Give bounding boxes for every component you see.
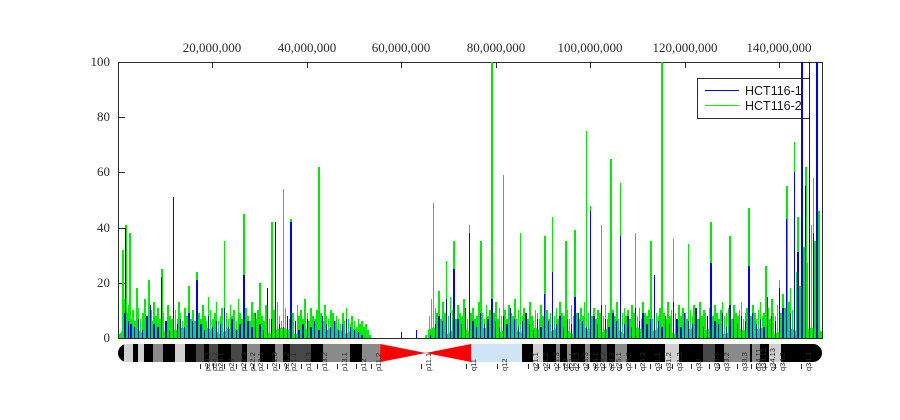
y-tick-label: 60 (78, 164, 110, 180)
data-spike-hct116-1 (208, 316, 209, 338)
data-spike-hct116-1 (503, 316, 504, 338)
data-spike-hct116-1 (495, 321, 496, 338)
data-spike-hct116-1 (314, 321, 315, 338)
legend-item-hct116-2: HCT116-2 (705, 98, 802, 113)
x-tick-label: 100,000,000 (558, 40, 623, 56)
y-tick-label: 80 (78, 109, 110, 125)
data-spike-hct116-1 (669, 324, 670, 338)
band-tick (751, 364, 752, 369)
y-tick (119, 172, 125, 173)
data-spike-hct116-1 (658, 321, 659, 338)
band-tick (719, 364, 720, 369)
data-spike-hct116-1 (224, 308, 225, 338)
data-spike-hct116-1 (177, 324, 178, 338)
band-label-q25.2: q25.2 (624, 352, 633, 371)
band-tick (528, 364, 529, 369)
data-spike-hct116-1 (153, 324, 154, 338)
x-tick (779, 62, 780, 68)
data-spike-hct116-1 (279, 324, 280, 338)
data-spike-hct116-1 (125, 228, 126, 338)
band-tick (775, 364, 776, 369)
data-spike-hct116-1 (612, 313, 613, 338)
band-tick (207, 364, 208, 369)
band-tick (253, 364, 254, 369)
data-spike-hct116-1 (295, 321, 296, 338)
data-spike-hct116-1 (537, 319, 538, 338)
legend-swatch (705, 105, 739, 106)
band-tick (286, 364, 287, 369)
data-spike-hct116-1 (733, 319, 734, 338)
band-tick (356, 364, 357, 369)
band-label-q23.3: q23.3 (581, 352, 590, 371)
data-spike-hct116-1 (506, 324, 507, 338)
data-spike-hct116-1 (741, 316, 742, 338)
data-spike-hct116-1 (767, 297, 768, 338)
data-spike-hct116-1 (416, 330, 417, 338)
data-spike-hct116-1 (801, 62, 802, 338)
data-spike-hct116-1 (499, 327, 500, 338)
data-spike-hct116-1 (522, 321, 523, 338)
data-spike-hct116-1 (461, 324, 462, 338)
x-axis-spine-bottom (118, 338, 823, 339)
band-label-p21.3: p21.3 (270, 352, 279, 371)
data-spike-hct116-1 (578, 313, 579, 338)
data-spike-hct116-1 (146, 316, 147, 338)
data-spike-hct116-1 (310, 327, 311, 338)
y-tick-label: 40 (78, 220, 110, 236)
data-spike-hct116-1 (745, 321, 746, 338)
data-spike-hct116-1 (165, 321, 166, 338)
data-spike-hct116-1 (200, 324, 201, 338)
band-tick (200, 364, 201, 369)
band-tick (267, 364, 268, 369)
data-spike-hct116-1 (533, 330, 534, 338)
band-tick (661, 364, 662, 369)
data-spike-hct116-1 (680, 327, 681, 338)
y-tick-label: 20 (78, 275, 110, 291)
data-spike-hct116-1 (342, 324, 343, 338)
band-tick (371, 364, 372, 369)
data-spike-hct116-1 (318, 330, 319, 338)
data-spike-hct116-1 (510, 308, 511, 338)
data-spike-hct116-1 (128, 321, 129, 338)
data-spike-hct116-1 (786, 219, 787, 338)
data-spike-hct116-1 (446, 299, 447, 338)
band-tick (564, 364, 565, 369)
x-tick-label: 60,000,000 (372, 40, 431, 56)
band-tick (611, 364, 612, 369)
band-label-p11.2: p11.2 (374, 353, 383, 371)
data-spike-hct116-1 (756, 324, 757, 338)
band-label-q33.2: q33.2 (722, 352, 731, 371)
data-spike-hct116-2 (425, 335, 427, 338)
data-baseline-hct116-2 (821, 332, 822, 338)
data-spike-hct116-1 (138, 319, 139, 338)
band-tick (421, 364, 422, 369)
data-spike-hct116-1 (771, 316, 772, 338)
legend: HCT116-1HCT116-2 (697, 78, 810, 119)
data-spike-hct116-1 (307, 319, 308, 338)
x-tick (401, 62, 402, 68)
data-spike-hct116-1 (469, 233, 470, 338)
band-tick (635, 364, 636, 369)
data-spike-hct116-1 (334, 321, 335, 338)
data-spike-hct116-1 (642, 313, 643, 338)
band-tick (279, 364, 280, 369)
data-spike-hct116-1 (726, 327, 727, 338)
band-tick (317, 364, 318, 369)
data-spike-hct116-1 (196, 280, 197, 338)
data-spike-hct116-1 (322, 316, 323, 338)
y-tick (119, 117, 125, 118)
data-spike-hct116-1 (204, 330, 205, 338)
x-tick-label: 140,000,000 (747, 40, 812, 56)
band-tick (765, 364, 766, 369)
data-spike-hct116-1 (627, 316, 628, 338)
band-label-p22.1: p22.1 (256, 352, 265, 371)
band-tick (621, 364, 622, 369)
data-spike-hct116-1 (794, 172, 795, 338)
x-tick-label: 40,000,000 (278, 40, 337, 56)
data-spike-hct116-1 (180, 319, 181, 338)
data-spike-hct116-1 (430, 335, 431, 338)
data-spike-hct116-1 (487, 319, 488, 338)
data-spike-hct116-1 (574, 297, 575, 338)
data-spike-hct116-1 (763, 327, 764, 338)
band-label-p23: p23 (227, 358, 236, 371)
band-label-q34.2: q34.2 (778, 352, 787, 371)
data-spike-hct116-1 (548, 321, 549, 338)
data-spike-hct116-1 (184, 327, 185, 338)
band-tick (672, 364, 673, 369)
data-spike-hct116-1 (760, 319, 761, 338)
data-spike-hct116-1 (544, 294, 545, 338)
band-tick (213, 364, 214, 369)
data-spike-hct116-1 (809, 62, 810, 338)
data-spike-hct116-2 (661, 62, 663, 338)
y-axis-spine-right (822, 62, 823, 339)
band-tick (737, 364, 738, 369)
data-spike-hct116-1 (267, 288, 268, 338)
data-spike-hct116-1 (782, 308, 783, 338)
band-label-q21.3: q21.3 (552, 352, 561, 371)
data-spike-hct116-1 (567, 319, 568, 338)
data-spike-hct116-1 (722, 313, 723, 338)
data-spike-hct116-1 (597, 324, 598, 338)
y-tick (119, 62, 125, 63)
band-tick (538, 364, 539, 369)
data-spike-hct116-1 (692, 324, 693, 338)
data-spike-hct116-1 (134, 327, 135, 338)
data-spike-hct116-1 (729, 305, 730, 338)
data-spike-hct116-1 (271, 319, 272, 338)
band-label-q11: q11 (469, 359, 478, 371)
band-tick (691, 364, 692, 369)
x-tick (496, 62, 497, 68)
data-spike-hct116-1 (665, 316, 666, 338)
data-spike-hct116-1 (157, 327, 158, 338)
data-spike-hct116-1 (298, 330, 299, 338)
data-spike-hct116-1 (593, 316, 594, 338)
data-spike-hct116-1 (263, 330, 264, 338)
data-spike-hct116-1 (571, 324, 572, 338)
band-tick (756, 364, 757, 369)
x-tick-label: 80,000,000 (467, 40, 526, 56)
data-spike-hct116-1 (326, 324, 327, 338)
band-tick (549, 364, 550, 369)
data-spike-hct116-1 (590, 211, 591, 338)
data-spike-hct116-1 (491, 299, 492, 338)
data-spike-hct116-1 (654, 275, 655, 338)
data-spike-hct116-1 (650, 319, 651, 338)
data-spike-hct116-1 (710, 263, 711, 338)
data-spike-hct116-2 (491, 62, 493, 338)
data-spike-hct116-1 (775, 321, 776, 338)
data-spike-hct116-1 (259, 324, 260, 338)
data-spike-hct116-1 (699, 319, 700, 338)
cgh-figure: 20,000,00040,000,00060,000,00080,000,000… (0, 0, 900, 420)
data-spike-hct116-1 (748, 266, 749, 338)
data-spike-hct116-1 (192, 321, 193, 338)
data-spike-hct116-1 (718, 324, 719, 338)
band-tick (337, 364, 338, 369)
data-spike-hct116-1 (188, 313, 189, 338)
data-spike-hct116-1 (673, 302, 674, 338)
band-label-p21.1: p21.1 (289, 352, 298, 371)
band-tick (595, 364, 596, 369)
data-spike-hct116-1 (559, 316, 560, 338)
data-spike-hct116-1 (173, 197, 174, 338)
y-tick (119, 338, 125, 339)
data-spike-hct116-1 (453, 269, 454, 338)
band-tick (709, 364, 710, 369)
band-tick (650, 364, 651, 369)
band-label-p12: p12 (359, 358, 368, 371)
y-tick-label: 0 (78, 330, 110, 346)
x-tick-label: 120,000,000 (653, 40, 718, 56)
data-spike-hct116-1 (283, 327, 284, 338)
data-spike-hct116-1 (797, 252, 798, 338)
data-spike-hct116-1 (150, 305, 151, 338)
data-spike-hct116-1 (231, 319, 232, 338)
data-spike-hct116-1 (688, 321, 689, 338)
data-spike-hct116-1 (484, 324, 485, 338)
data-spike-hct116-1 (737, 324, 738, 338)
data-spike-hct116-1 (620, 236, 621, 338)
data-spike-hct116-1 (646, 324, 647, 338)
data-spike-hct116-1 (790, 313, 791, 338)
band-tick (801, 364, 802, 369)
data-spike-hct116-1 (350, 327, 351, 338)
band-label-q12: q12 (500, 358, 509, 371)
data-spike-hct116-2 (586, 131, 588, 338)
data-spike-hct116-1 (435, 324, 436, 338)
data-spike-hct116-1 (552, 272, 553, 338)
data-spike-hct116-1 (529, 324, 530, 338)
data-spike-hct116-1 (714, 321, 715, 338)
data-spike-hct116-1 (813, 233, 814, 338)
x-tick (212, 62, 213, 68)
data-spike-hct116-1 (608, 327, 609, 338)
data-spike-hct116-1 (330, 327, 331, 338)
legend-item-hct116-1: HCT116-1 (705, 83, 802, 98)
data-spike-hct116-1 (556, 324, 557, 338)
data-spike-hct116-1 (358, 332, 359, 338)
data-spike-hct116-1 (601, 305, 602, 338)
band-label-p13.2: p13.2 (320, 352, 329, 371)
data-spike-hct116-1 (239, 324, 240, 338)
band-label-q25.3: q25.3 (638, 352, 647, 371)
data-spike-hct116-1 (442, 321, 443, 338)
data-spike-hct116-1 (338, 330, 339, 338)
data-spike-hct116-1 (676, 319, 677, 338)
data-spike-hct116-1 (540, 327, 541, 338)
data-spike-hct116-1 (290, 222, 291, 338)
data-baseline-hct116-2 (366, 331, 368, 338)
data-spike-hct116-1 (302, 324, 303, 338)
data-spike-hct116-1 (255, 313, 256, 338)
data-spike-hct116-1 (220, 324, 221, 338)
data-spike-hct116-1 (161, 277, 162, 338)
data-spike-hct116-1 (480, 313, 481, 338)
data-spike-hct116-1 (563, 327, 564, 338)
y-tick-label: 100 (78, 54, 110, 70)
data-spike-hct116-2 (818, 211, 820, 338)
legend-swatch (705, 90, 739, 91)
data-spike-hct116-1 (616, 321, 617, 338)
band-label-q32: q32 (694, 358, 703, 371)
data-spike-hct116-1 (476, 327, 477, 338)
data-spike-hct116-1 (450, 313, 451, 338)
data-spike-hct116-2 (369, 335, 371, 338)
band-tick (604, 364, 605, 369)
x-tick (307, 62, 308, 68)
data-spike-hct116-1 (354, 330, 355, 338)
band-tick (224, 364, 225, 369)
band-label-p13.1: p13.1 (340, 352, 349, 371)
data-spike-hct116-1 (779, 288, 780, 338)
band-tick (466, 364, 467, 369)
data-spike-hct116-1 (438, 316, 439, 338)
data-spike-hct116-1 (251, 327, 252, 338)
band-tick (301, 364, 302, 369)
data-spike-hct116-1 (514, 319, 515, 338)
data-spike-hct116-1 (661, 327, 662, 338)
band-label-q31.3: q31.3 (675, 352, 684, 371)
band-label-p11.1: p11.1 (424, 353, 433, 371)
band-tick (578, 364, 579, 369)
band-tick (236, 364, 237, 369)
band-label-q34.12: q34.12 (759, 348, 768, 371)
data-spike-hct116-1 (472, 321, 473, 338)
data-spike-hct116-1 (361, 335, 362, 338)
data-spike-hct116-1 (582, 321, 583, 338)
data-spike-hct116-1 (605, 319, 606, 338)
data-spike-hct116-1 (287, 316, 288, 338)
x-tick (401, 332, 402, 338)
data-spike-hct116-1 (518, 327, 519, 338)
data-spike-hct116-1 (212, 327, 213, 338)
x-tick (685, 62, 686, 68)
x-tick-label: 20,000,000 (183, 40, 242, 56)
data-spike-hct116-1 (752, 313, 753, 338)
band-label-p13.3: p13.3 (304, 352, 313, 371)
data-spike-hct116-1 (243, 275, 244, 338)
data-spike-hct116-1 (695, 308, 696, 338)
legend-label: HCT116-2 (745, 99, 802, 113)
band-tick (588, 364, 589, 369)
band-tick (569, 364, 570, 369)
data-spike-hct116-1 (130, 324, 131, 338)
data-spike-hct116-1 (465, 308, 466, 338)
band-label-q33.3: q33.3 (740, 352, 749, 371)
data-spike-hct116-1 (684, 313, 685, 338)
band-tick (497, 364, 498, 369)
x-tick (590, 62, 591, 68)
legend-label: HCT116-1 (745, 84, 802, 98)
data-spike-hct116-1 (275, 222, 276, 338)
data-spike-hct116-1 (169, 330, 170, 338)
data-spike-hct116-1 (457, 319, 458, 338)
data-spike-hct116-1 (624, 324, 625, 338)
data-spike-hct116-1 (639, 321, 640, 338)
band-tick (245, 364, 246, 369)
data-spike-hct116-1 (525, 313, 526, 338)
data-spike-hct116-1 (703, 327, 704, 338)
data-spike-hct116-1 (346, 319, 347, 338)
band-label-q34.3: q34.3 (804, 352, 813, 371)
data-spike-hct116-1 (586, 327, 587, 338)
data-spike-hct116-1 (805, 186, 806, 338)
band-label-q23.2: q23.2 (572, 352, 581, 371)
band-tick (558, 364, 559, 369)
data-spike-hct116-1 (228, 327, 229, 338)
data-spike-hct116-1 (635, 308, 636, 338)
data-spike-hct116-1 (707, 316, 708, 338)
data-spike-hct116-1 (816, 62, 817, 338)
data-spike-hct116-1 (247, 321, 248, 338)
data-spike-hct116-1 (631, 327, 632, 338)
data-spike-hct116-1 (236, 330, 237, 338)
data-spike-hct116-1 (216, 321, 217, 338)
data-spike-hct116-1 (142, 330, 143, 338)
